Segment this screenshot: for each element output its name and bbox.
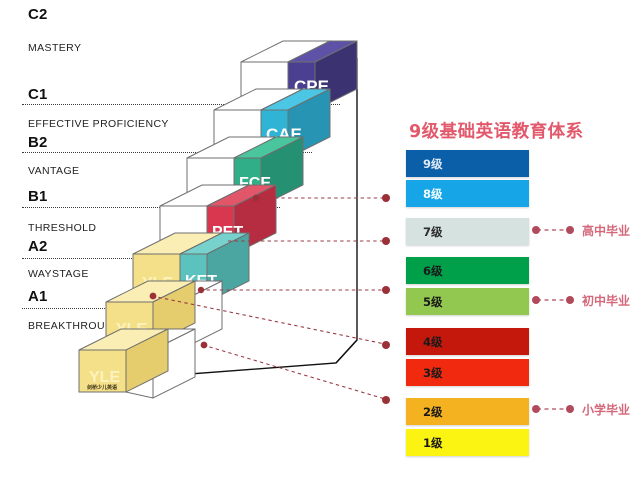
graduation-connector-0 (532, 224, 574, 236)
connector-dot-ket (382, 286, 390, 294)
level-bar-label: 2级 (423, 404, 443, 420)
level-bar-2[interactable]: 2级 (406, 398, 529, 425)
level-bar-8[interactable]: 8级 (406, 180, 529, 207)
connector-dot-yle2 (382, 396, 390, 404)
cube-label-yle-1: YLE (89, 369, 120, 386)
level-bar-label: 3级 (423, 365, 443, 381)
connector-dot-fce (382, 194, 390, 202)
axis-corner (336, 340, 357, 363)
graduation-connector-2 (532, 403, 574, 415)
connector-dot-ket-src (198, 287, 204, 293)
level-bar-label: 6级 (423, 263, 443, 279)
diagram-root: C2MASTERYC1EFFECTIVE PROFICIENCYB2VANTAG… (0, 0, 643, 492)
graduation-connector-1 (532, 294, 574, 306)
level-bar-label: 4级 (423, 334, 443, 350)
level-bar-label: 9级 (423, 156, 443, 172)
level-bar-6[interactable]: 6级 (406, 257, 529, 284)
level-bar-9[interactable]: 9级 (406, 150, 529, 177)
nine-level-panel: 9级基础英语教育体系 9级8级7级6级5级4级3级2级1级 高中毕业初中毕业小学… (390, 110, 643, 470)
connector-dot-fce-src (253, 195, 259, 201)
level-bar-5[interactable]: 5级 (406, 288, 529, 315)
level-bar-label: 1级 (423, 435, 443, 451)
panel-title: 9级基础英语教育体系 (409, 118, 584, 143)
level-bar-4[interactable]: 4级 (406, 328, 529, 355)
level-bar-label: 8级 (423, 186, 443, 202)
connector-dot-yle2-src (201, 342, 208, 349)
level-bar-3[interactable]: 3级 (406, 359, 529, 386)
graduation-note-2: 小学毕业 (582, 401, 630, 418)
connector-dot-pet (382, 237, 390, 245)
level-bar-label: 5级 (423, 294, 443, 310)
cube-cn-yle-1: 剑桥少儿英语 (86, 384, 117, 391)
level-bar-label: 7级 (423, 224, 443, 240)
level-bar-1[interactable]: 1级 (406, 429, 529, 456)
graduation-note-0: 高中毕业 (582, 222, 630, 239)
connector-dot-yle3-src (150, 293, 157, 300)
graduation-note-1: 初中毕业 (582, 292, 630, 309)
level-bar-7[interactable]: 7级 (406, 218, 529, 245)
connector-dot-yle3 (382, 341, 390, 349)
